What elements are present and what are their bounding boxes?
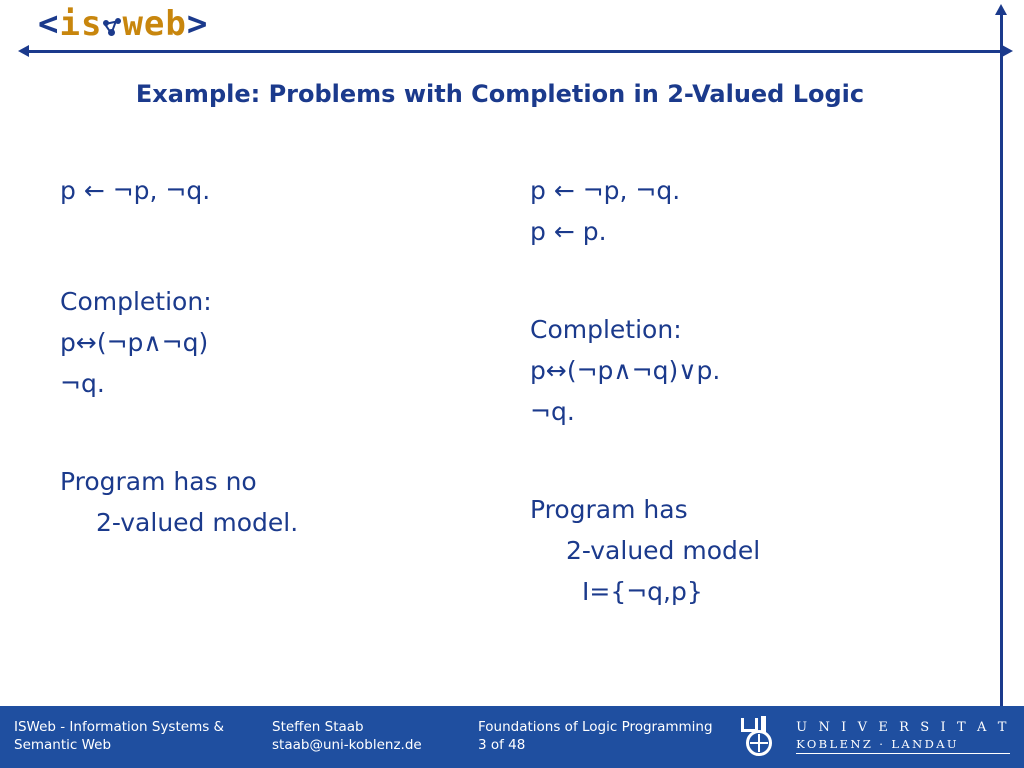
right-program-block: p ← ¬p, ¬q. p ← p. bbox=[530, 178, 980, 244]
logo-right-bracket: > bbox=[187, 4, 208, 44]
left-completion-label: Completion: bbox=[60, 289, 500, 314]
right-conclusion-line-1: Program has bbox=[530, 497, 980, 522]
footer-page-number: 3 of 48 bbox=[478, 736, 778, 754]
left-program-line-1: p ← ¬p, ¬q. bbox=[60, 178, 500, 203]
university-name-line-2: KOBLENZ · LANDAU bbox=[796, 737, 1010, 754]
slide-body: p ← ¬p, ¬q. Completion: p↔(¬p∧¬q) ¬q. Pr… bbox=[0, 178, 1000, 658]
horizontal-arrow-rule bbox=[28, 50, 1003, 53]
right-program-line-2: p ← p. bbox=[530, 219, 980, 244]
left-column: p ← ¬p, ¬q. Completion: p↔(¬p∧¬q) ¬q. Pr… bbox=[60, 178, 500, 535]
arrow-head-left-icon bbox=[18, 45, 29, 57]
left-conclusion-block: Program has no 2-valued model. bbox=[60, 469, 500, 535]
right-conclusion-line-2: 2-valued model bbox=[530, 538, 980, 563]
left-conclusion-line-2: 2-valued model. bbox=[60, 510, 500, 535]
footer-author: Steffen Staab staab@uni-koblenz.de bbox=[272, 718, 472, 754]
vertical-arrow-rule bbox=[1000, 14, 1003, 712]
footer-organization: ISWeb - Information Systems & Semantic W… bbox=[14, 718, 264, 754]
university-logo: U N I V E R S I T A T KOBLENZ · LANDAU bbox=[739, 714, 1010, 760]
left-conclusion-line-1: Program has no bbox=[60, 469, 500, 494]
left-completion-line-2: ¬q. bbox=[60, 371, 500, 396]
right-completion-label: Completion: bbox=[530, 317, 980, 342]
right-column: p ← ¬p, ¬q. p ← p. Completion: p↔(¬p∧¬q)… bbox=[530, 178, 980, 604]
logo-is-text: is bbox=[59, 4, 102, 44]
footer-course-title: Foundations of Logic Programming bbox=[478, 718, 778, 736]
footer-org-line-1: ISWeb - Information Systems & bbox=[14, 718, 264, 736]
right-conclusion-line-3: I={¬q,p} bbox=[530, 579, 980, 604]
logo-left-bracket: < bbox=[38, 4, 59, 44]
logo-web-text: web bbox=[122, 4, 186, 44]
right-completion-line-2: ¬q. bbox=[530, 399, 980, 424]
right-completion-line-1: p↔(¬p∧¬q)∨p. bbox=[530, 358, 980, 383]
footer-course: Foundations of Logic Programming 3 of 48 bbox=[478, 718, 778, 754]
right-program-line-1: p ← ¬p, ¬q. bbox=[530, 178, 980, 203]
network-dots-icon bbox=[102, 18, 122, 38]
iswebaway-logo: <isweb> bbox=[38, 4, 208, 44]
right-completion-block: Completion: p↔(¬p∧¬q)∨p. ¬q. bbox=[530, 317, 980, 424]
arrow-head-right-icon bbox=[1002, 45, 1013, 57]
left-completion-block: Completion: p↔(¬p∧¬q) ¬q. bbox=[60, 289, 500, 396]
page-title: Example: Problems with Completion in 2-V… bbox=[0, 80, 1000, 108]
footer-org-line-2: Semantic Web bbox=[14, 736, 264, 754]
left-completion-line-1: p↔(¬p∧¬q) bbox=[60, 330, 500, 355]
university-name-line-1: U N I V E R S I T A T bbox=[796, 720, 1010, 737]
slide-footer: ISWeb - Information Systems & Semantic W… bbox=[0, 706, 1024, 768]
university-wordmark: U N I V E R S I T A T KOBLENZ · LANDAU bbox=[796, 720, 1010, 754]
footer-author-name: Steffen Staab bbox=[272, 718, 472, 736]
university-emblem-icon bbox=[739, 716, 787, 758]
left-program-block: p ← ¬p, ¬q. bbox=[60, 178, 500, 203]
right-conclusion-block: Program has 2-valued model I={¬q,p} bbox=[530, 497, 980, 604]
arrow-head-up-icon bbox=[995, 4, 1007, 15]
footer-author-email[interactable]: staab@uni-koblenz.de bbox=[272, 736, 472, 754]
